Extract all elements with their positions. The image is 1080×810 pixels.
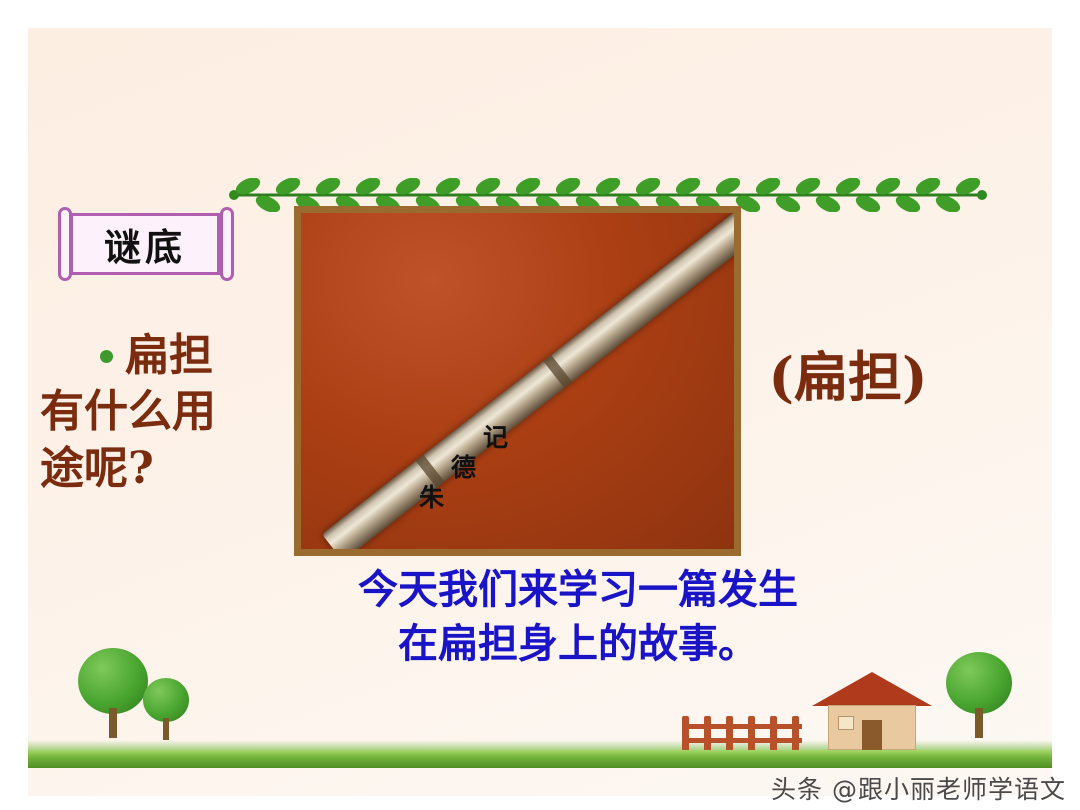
caption-line-1: 今天我们来学习一篇发生 bbox=[288, 563, 868, 617]
fence-icon bbox=[682, 716, 802, 750]
answer-text: (扁担) bbox=[683, 333, 1013, 412]
house-icon bbox=[812, 672, 932, 750]
question-block: 扁担 有什么用 途呢? bbox=[38, 328, 278, 497]
inscription-char-mid: 德 bbox=[451, 448, 476, 484]
pole-band-right-icon bbox=[544, 355, 573, 388]
scroll-curl-right-icon bbox=[220, 207, 234, 281]
question-line-2: 有什么用 bbox=[38, 384, 278, 440]
tree-left-small-icon bbox=[143, 678, 189, 740]
pole-inscription: 记 德 朱 bbox=[419, 418, 539, 518]
tree-left-icon bbox=[78, 648, 148, 738]
inscription-char-bottom: 朱 bbox=[419, 478, 444, 514]
inscription-char-top: 记 bbox=[483, 418, 508, 454]
question-line-1-row: 扁担 bbox=[38, 328, 278, 384]
question-line-1: 扁担 bbox=[125, 328, 213, 384]
photo-background: 记 德 朱 bbox=[301, 213, 734, 549]
tree-right-icon bbox=[946, 652, 1012, 738]
ground-strip bbox=[28, 750, 1052, 768]
carrying-pole-photo: 记 德 朱 bbox=[294, 206, 741, 556]
scroll-banner-label: 谜底 bbox=[70, 213, 220, 275]
slide-canvas: 谜底 扁担 有什么用 途呢? 记 德 朱 (扁担) 今天我们来学习一篇发生 在扁… bbox=[28, 28, 1052, 796]
caption-block: 今天我们来学习一篇发生 在扁担身上的故事。 bbox=[288, 563, 868, 671]
question-line-3: 途呢? bbox=[38, 441, 278, 497]
bullet-dot-icon bbox=[100, 350, 113, 363]
caption-line-2: 在扁担身上的故事。 bbox=[288, 617, 868, 671]
watermark-text: 头条 @跟小丽老师学语文 bbox=[771, 770, 1066, 806]
scroll-banner: 谜底 bbox=[58, 213, 234, 275]
